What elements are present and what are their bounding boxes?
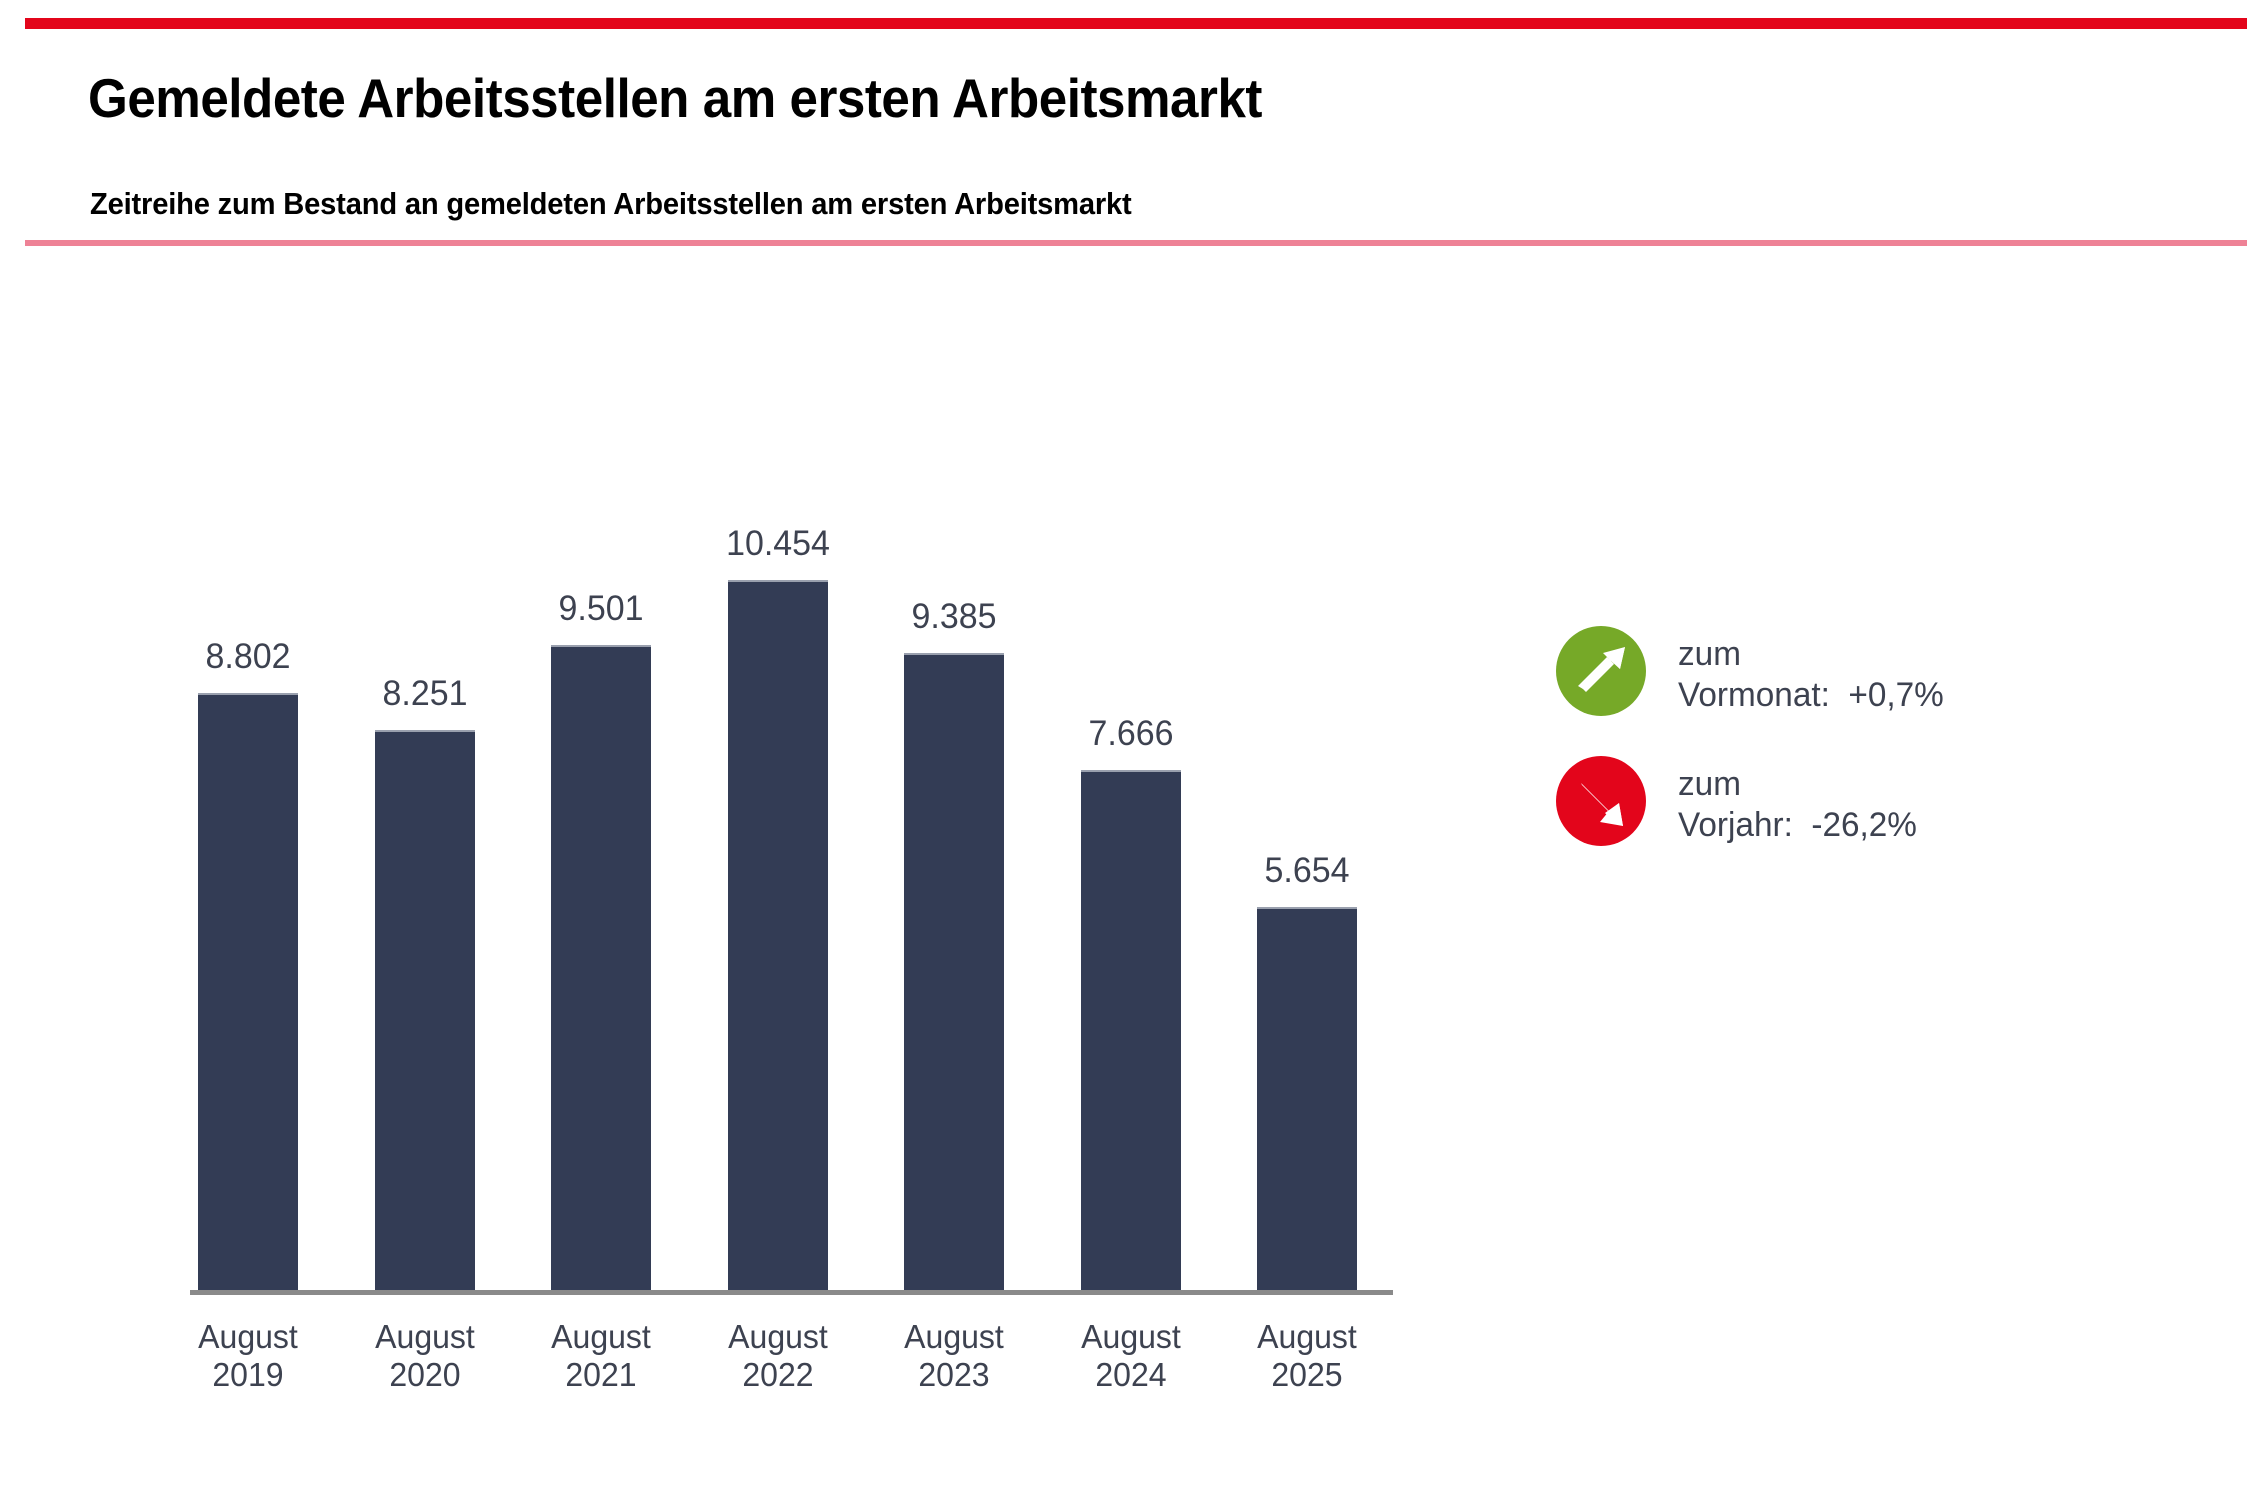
x-axis-label-month: August (852, 1318, 1056, 1356)
bar-2020 (375, 730, 475, 1294)
x-axis-line (190, 1290, 1393, 1295)
x-axis-label-2020: August2020 (323, 1318, 527, 1394)
legend-vormonat-line1: zum (1678, 635, 1741, 673)
legend-item-vormonat: zumVormonat: +0,7% (1556, 626, 1949, 716)
x-axis-label-year: 2023 (852, 1356, 1056, 1394)
bar-2025 (1257, 907, 1357, 1294)
legend-vorjahr-line2: Vorjahr: -26,2% (1678, 806, 1917, 844)
bar-2021 (551, 645, 651, 1294)
bar-2023 (904, 653, 1004, 1294)
bar-value-label: 9.501 (494, 589, 707, 629)
x-axis-label-2024: August2024 (1029, 1318, 1233, 1394)
legend-vorjahr-text: zumVorjahr: -26,2% (1678, 756, 1917, 846)
x-axis-label-month: August (323, 1318, 527, 1356)
bar-2024 (1081, 770, 1181, 1294)
bar-value-label: 7.666 (1024, 714, 1237, 754)
x-axis-label-month: August (676, 1318, 880, 1356)
bar-2022 (728, 580, 828, 1294)
bar-value-label: 10.454 (671, 524, 884, 564)
x-axis-label-year: 2020 (323, 1356, 527, 1394)
x-axis-label-2021: August2021 (499, 1318, 703, 1394)
x-axis-label-2023: August2023 (852, 1318, 1056, 1394)
x-axis-label-2022: August2022 (676, 1318, 880, 1394)
bar-value-label: 9.385 (847, 597, 1060, 637)
arrow-down-right-icon (1556, 756, 1646, 846)
x-axis-label-month: August (1205, 1318, 1409, 1356)
x-axis-label-year: 2024 (1029, 1356, 1233, 1394)
bar-value-label: 8.251 (318, 674, 531, 714)
x-axis-label-2019: August2019 (146, 1318, 350, 1394)
legend-vormonat-line2: Vormonat: +0,7% (1678, 676, 1944, 714)
x-axis-label-month: August (146, 1318, 350, 1356)
x-axis-label-year: 2019 (146, 1356, 350, 1394)
legend-vorjahr-line1: zum (1678, 765, 1741, 803)
x-axis-label-2025: August2025 (1205, 1318, 1409, 1394)
bar-value-label: 8.802 (141, 637, 354, 677)
x-axis-label-month: August (499, 1318, 703, 1356)
legend-item-vorjahr: zumVorjahr: -26,2% (1556, 756, 1922, 846)
x-axis-label-year: 2021 (499, 1356, 703, 1394)
x-axis-label-month: August (1029, 1318, 1233, 1356)
bar-value-label: 5.654 (1200, 851, 1413, 891)
x-axis-label-year: 2022 (676, 1356, 880, 1394)
bar-chart: 8.802August20198.251August20209.501Augus… (0, 0, 1500, 1500)
x-axis-label-year: 2025 (1205, 1356, 1409, 1394)
bar-2019 (198, 693, 298, 1294)
legend-vormonat-text: zumVormonat: +0,7% (1678, 626, 1944, 716)
arrow-up-right-icon (1556, 626, 1646, 716)
